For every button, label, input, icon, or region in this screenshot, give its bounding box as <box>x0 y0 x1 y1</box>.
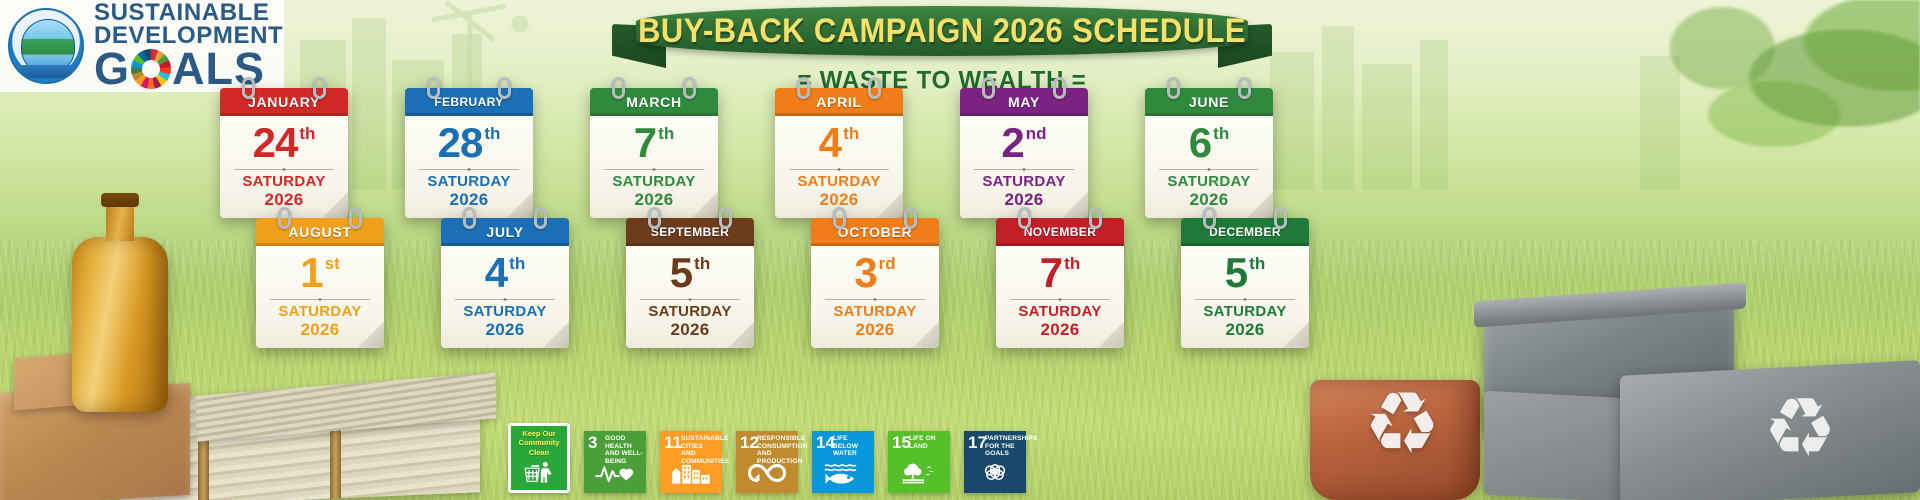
tree-bird-icon <box>888 456 950 490</box>
calendar-day-line: 4 th <box>449 252 561 294</box>
calendar-day-line: 4 th <box>783 122 895 164</box>
calendar-weekday: SATURDAY <box>598 174 710 190</box>
calendar-day-suffix: th <box>1213 125 1229 142</box>
calendar-day-suffix: st <box>325 255 340 272</box>
calendar-year: 2026 <box>819 320 931 339</box>
calendar-weekday: SATURDAY <box>228 174 340 190</box>
schedule-row-first-half: JANUARY 24 th SATURDAY 2026 FEBRUARY 28 … <box>220 88 1273 218</box>
infinity-icon <box>736 456 798 490</box>
calendar-divider <box>604 169 704 170</box>
calendar-day-number: 4 <box>485 252 507 294</box>
calendar-month-header: MARCH <box>590 88 718 116</box>
calendar-card[interactable]: AUGUST 1 st SATURDAY 2026 <box>256 218 384 348</box>
calendar-month-header: OCTOBER <box>811 218 939 246</box>
calendar-weekday: SATURDAY <box>968 174 1080 190</box>
sdg-goal-tile: 3 GOOD HEALTH AND WELL-BEING <box>584 431 646 493</box>
calendar-day-number: 6 <box>1189 122 1211 164</box>
calendar-body: 2 nd SATURDAY 2026 <box>960 116 1088 218</box>
calendar-day-number: 3 <box>854 252 876 294</box>
schedule-row-second-half: AUGUST 1 st SATURDAY 2026 JULY 4 th SATU… <box>256 218 1309 348</box>
calendar-body: 24 th SATURDAY 2026 <box>220 116 348 218</box>
calendar-divider <box>234 169 334 170</box>
calendar-month-header: JULY <box>441 218 569 246</box>
calendar-year: 2026 <box>228 190 340 209</box>
calendar-card[interactable]: JUNE 6 th SATURDAY 2026 <box>1145 88 1273 218</box>
calendar-day-line: 7 th <box>598 122 710 164</box>
glass-bottle-prop <box>72 237 168 412</box>
calendar-year: 2026 <box>264 320 376 339</box>
calendar-divider <box>974 169 1074 170</box>
sdg-goal-label: LIFE BELOW WATER <box>833 435 871 458</box>
calendar-body: 4 th SATURDAY 2026 <box>441 246 569 348</box>
calendar-day-line: 5 th <box>1189 252 1301 294</box>
calendar-weekday: SATURDAY <box>1153 174 1265 190</box>
calendar-day-line: 28 th <box>413 122 525 164</box>
calendar-day-number: 1 <box>300 252 322 294</box>
campaign-title: BUY-BACK CAMPAIGN 2026 SCHEDULE <box>638 11 1246 51</box>
calendar-body: 4 th SATURDAY 2026 <box>775 116 903 218</box>
calendar-card[interactable]: NOVEMBER 7 th SATURDAY 2026 <box>996 218 1124 348</box>
title-block: BUY-BACK CAMPAIGN 2026 SCHEDULE = WASTE … <box>592 4 1292 95</box>
calendar-body: 1 st SATURDAY 2026 <box>256 246 384 348</box>
calendar-day-line: 1 st <box>264 252 376 294</box>
calendar-divider <box>640 299 740 300</box>
ribbon-band: BUY-BACK CAMPAIGN 2026 SCHEDULE <box>636 6 1248 56</box>
calendar-day-line: 6 th <box>1153 122 1265 164</box>
calendar-month-header: MAY <box>960 88 1088 116</box>
calendar-day-number: 24 <box>253 122 298 164</box>
keep-community-clean-badge: Keep Our Community Clean <box>508 423 570 493</box>
calendar-body: 5 th SATURDAY 2026 <box>1181 246 1309 348</box>
calendar-month-header: FEBRUARY <box>405 88 533 116</box>
calendar-day-number: 5 <box>1225 252 1247 294</box>
calendar-day-suffix: nd <box>1026 125 1047 142</box>
calendar-divider <box>1195 299 1295 300</box>
calendar-body: 7 th SATURDAY 2026 <box>590 116 718 218</box>
calendar-year: 2026 <box>1004 320 1116 339</box>
calendar-month-header: JANUARY <box>220 88 348 116</box>
calendar-day-line: 2 nd <box>968 122 1080 164</box>
calendar-body: 7 th SATURDAY 2026 <box>996 246 1124 348</box>
calendar-weekday: SATURDAY <box>449 304 561 320</box>
calendar-card[interactable]: FEBRUARY 28 th SATURDAY 2026 <box>405 88 533 218</box>
recycle-icon-secondary: ♻ <box>1740 384 1860 474</box>
calendar-body: 28 th SATURDAY 2026 <box>405 116 533 218</box>
calendar-divider <box>789 169 889 170</box>
sdg-line-1: SUSTAINABLE <box>94 1 283 24</box>
sdg-goals-row: G ALS <box>94 47 283 91</box>
person-bin-icon <box>511 457 567 487</box>
sdg-icon-strip: Keep Our Community Clean 3 GOOD HEALTH A… <box>508 423 1026 493</box>
calendar-month-header: AUGUST <box>256 218 384 246</box>
calendar-day-suffix: th <box>843 125 859 142</box>
calendar-day-suffix: th <box>1249 255 1265 272</box>
calendar-day-line: 24 th <box>228 122 340 164</box>
calendar-day-suffix: th <box>694 255 710 272</box>
sdg-wordmark: SUSTAINABLE DEVELOPMENT G ALS <box>94 1 283 92</box>
rings-icon <box>964 456 1026 490</box>
calendar-divider <box>270 299 370 300</box>
keep-community-clean-text: Keep Our Community Clean <box>511 429 567 457</box>
sdg-goal-tile: 12 RESPONSIBLE CONSUMPTION AND PRODUCTIO… <box>736 431 798 493</box>
calendar-year: 2026 <box>1189 320 1301 339</box>
calendar-divider <box>1159 169 1259 170</box>
calendar-card[interactable]: SEPTEMBER 5 th SATURDAY 2026 <box>626 218 754 348</box>
sdg-goal-label: PARTNERSHIPS FOR THE GOALS <box>985 435 1023 458</box>
calendar-body: 6 th SATURDAY 2026 <box>1145 116 1273 218</box>
calendar-year: 2026 <box>783 190 895 209</box>
calendar-day-line: 5 th <box>634 252 746 294</box>
sdg-goal-tile: 17 PARTNERSHIPS FOR THE GOALS <box>964 431 1026 493</box>
calendar-day-number: 7 <box>634 122 656 164</box>
calendar-weekday: SATURDAY <box>634 304 746 320</box>
calendar-card[interactable]: JULY 4 th SATURDAY 2026 <box>441 218 569 348</box>
sdg-goals-als: ALS <box>172 47 265 91</box>
title-ribbon: BUY-BACK CAMPAIGN 2026 SCHEDULE <box>612 4 1272 60</box>
calendar-year: 2026 <box>634 320 746 339</box>
calendar-card[interactable]: APRIL 4 th SATURDAY 2026 <box>775 88 903 218</box>
calendar-weekday: SATURDAY <box>783 174 895 190</box>
calendar-day-number: 7 <box>1040 252 1062 294</box>
calendar-month-header: DECEMBER <box>1181 218 1309 246</box>
sdg-goal-tile: 11 SUSTAINABLE CITIES AND COMMUNITIES <box>660 431 722 493</box>
calendar-weekday: SATURDAY <box>1189 304 1301 320</box>
calendar-day-number: 28 <box>438 122 483 164</box>
sdg-goal-number: 3 <box>588 434 597 451</box>
sdg-goal-label: LIFE ON LAND <box>909 435 947 450</box>
calendar-divider <box>825 299 925 300</box>
calendar-card[interactable]: DECEMBER 5 th SATURDAY 2026 <box>1181 218 1309 348</box>
council-crest-icon: ✦ <box>8 8 84 84</box>
calendar-year: 2026 <box>413 190 525 209</box>
calendar-day-line: 7 th <box>1004 252 1116 294</box>
sdg-color-wheel-icon <box>131 49 171 89</box>
calendar-month-header: SEPTEMBER <box>626 218 754 246</box>
sdg-goal-number: 11 <box>664 434 682 451</box>
calendar-weekday: SATURDAY <box>819 304 931 320</box>
sdg-goal-tile: 15 LIFE ON LAND <box>888 431 950 493</box>
heartbeat-icon <box>584 456 646 490</box>
logo-panel: ✦ SUSTAINABLE DEVELOPMENT G ALS <box>0 0 284 92</box>
calendar-day-suffix: th <box>1064 255 1080 272</box>
calendar-weekday: SATURDAY <box>413 174 525 190</box>
calendar-year: 2026 <box>1153 190 1265 209</box>
calendar-divider <box>455 299 555 300</box>
calendar-day-suffix: th <box>484 125 500 142</box>
calendar-day-number: 2 <box>1001 122 1023 164</box>
calendar-card[interactable]: OCTOBER 3 rd SATURDAY 2026 <box>811 218 939 348</box>
campaign-poster: ♻ ♻ ✦ SUSTAINABLE DEVELOPMENT G ALS BUY-… <box>0 0 1920 500</box>
calendar-day-number: 4 <box>819 122 841 164</box>
calendar-year: 2026 <box>968 190 1080 209</box>
calendar-day-suffix: th <box>509 255 525 272</box>
calendar-year: 2026 <box>449 320 561 339</box>
recycle-icon: ♻ <box>1354 382 1450 466</box>
calendar-card[interactable]: MAY 2 nd SATURDAY 2026 <box>960 88 1088 218</box>
calendar-body: 5 th SATURDAY 2026 <box>626 246 754 348</box>
calendar-divider <box>1010 299 1110 300</box>
calendar-day-number: 5 <box>670 252 692 294</box>
calendar-day-suffix: rd <box>879 255 896 272</box>
calendar-card[interactable]: MARCH 7 th SATURDAY 2026 <box>590 88 718 218</box>
calendar-divider <box>419 169 519 170</box>
calendar-card[interactable]: JANUARY 24 th SATURDAY 2026 <box>220 88 348 218</box>
calendar-weekday: SATURDAY <box>1004 304 1116 320</box>
city-icon <box>660 456 722 490</box>
calendar-month-header: APRIL <box>775 88 903 116</box>
sdg-goals-g: G <box>94 47 130 91</box>
calendar-month-header: NOVEMBER <box>996 218 1124 246</box>
calendar-month-header: JUNE <box>1145 88 1273 116</box>
calendar-year: 2026 <box>598 190 710 209</box>
sdg-goal-tile: 14 LIFE BELOW WATER <box>812 431 874 493</box>
calendar-weekday: SATURDAY <box>264 304 376 320</box>
calendar-day-suffix: th <box>658 125 674 142</box>
calendar-body: 3 rd SATURDAY 2026 <box>811 246 939 348</box>
calendar-day-suffix: th <box>299 125 315 142</box>
fish-icon <box>812 456 874 490</box>
calendar-day-line: 3 rd <box>819 252 931 294</box>
